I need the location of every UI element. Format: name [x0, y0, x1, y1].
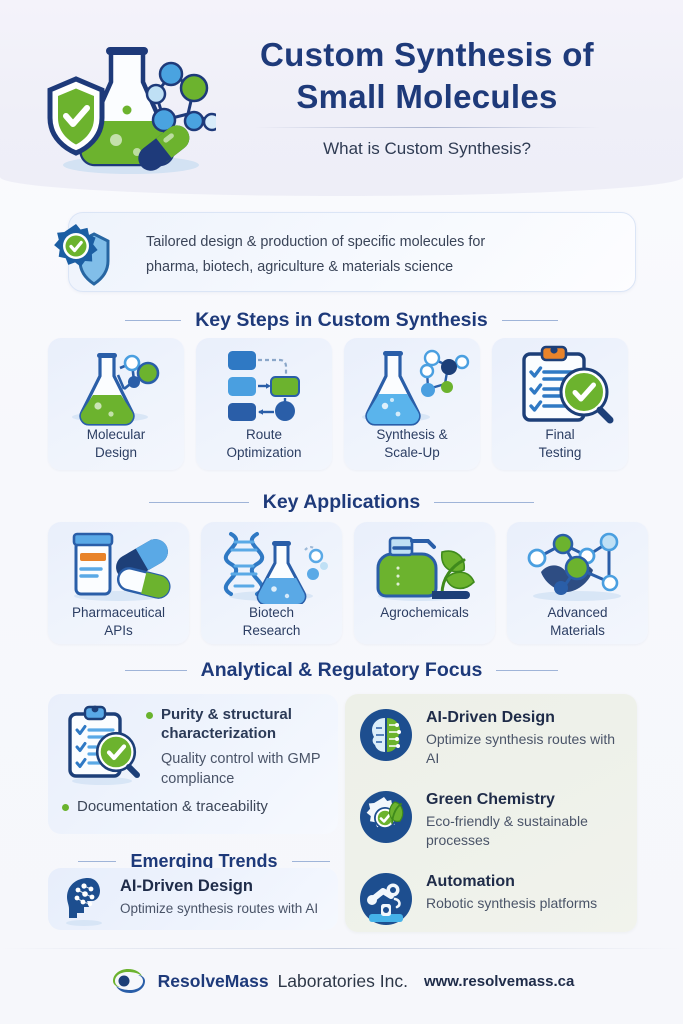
- heading-text: Key Steps in Custom Synthesis: [195, 309, 488, 332]
- bullet-dot: [62, 804, 69, 811]
- infographic-page: Custom Synthesis of Small Molecules What…: [0, 0, 683, 1024]
- heading-text: Analytical & Regulatory Focus: [201, 659, 483, 682]
- footer-divider: [0, 948, 683, 949]
- intro-callout: Tailored design & production of specific…: [46, 212, 636, 292]
- flowchart-icon: [196, 344, 332, 426]
- clipboard-checkmark-magnifier-icon: [492, 344, 628, 426]
- header-band: Custom Synthesis of Small Molecules What…: [0, 0, 683, 196]
- heading-rule-right: [496, 670, 558, 671]
- title-divider: [255, 127, 600, 128]
- card-advanced-materials[interactable]: Advanced Materials: [507, 522, 648, 644]
- intro-text: Tailored design & production of specific…: [146, 230, 616, 280]
- header-text-block: Custom Synthesis of Small Molecules What…: [212, 34, 642, 159]
- section-heading-key-steps: Key Steps in Custom Synthesis: [0, 309, 683, 332]
- card-biotech-research[interactable]: Biotech Research: [201, 522, 342, 644]
- heading-rule-left: [149, 502, 249, 503]
- trend-title: Green Chemistry: [426, 790, 626, 810]
- section-heading-key-applications: Key Applications: [0, 491, 683, 514]
- spray-bottle-leaf-icon: [354, 528, 495, 604]
- heading-text: Key Applications: [263, 491, 420, 514]
- trend-row-ai-driven-design[interactable]: AI-Driven Design Optimize synthesis rout…: [359, 708, 627, 768]
- bullet-title: Purity & structural characterization: [161, 705, 326, 743]
- card-label: Route Optimization: [222, 426, 305, 462]
- card-label: Agrochemicals: [376, 604, 473, 622]
- card-molecular-design[interactable]: Molecular Design: [48, 338, 184, 470]
- heading-rule-right: [292, 861, 330, 862]
- molecule-material-icon: [507, 528, 648, 604]
- clipboard-checkmark-magnifier-icon: [60, 704, 142, 786]
- intro-line-1: Tailored design & production of specific…: [146, 230, 616, 255]
- heading-rule-right: [502, 320, 558, 321]
- page-title-line2: Small Molecules: [212, 76, 642, 118]
- card-label: Molecular Design: [83, 426, 150, 462]
- emerging-trend-card-ai-driven-design[interactable]: AI-Driven Design Optimize synthesis rout…: [48, 868, 338, 930]
- footer-url[interactable]: www.resolvemass.ca: [424, 973, 574, 990]
- footer-company: Laboratories Inc.: [278, 971, 408, 992]
- flask-molecule-icon: [48, 344, 184, 426]
- robot-arm-icon: [359, 872, 413, 926]
- heading-rule-right: [434, 502, 534, 503]
- trend-title: Automation: [426, 872, 641, 892]
- footer-brand: ResolveMass: [158, 971, 269, 992]
- bullet-title: Documentation & traceability: [77, 797, 268, 817]
- flask-bubbles-molecule-icon: [344, 344, 480, 426]
- bullet-documentation-traceability: Documentation & traceability: [62, 797, 327, 817]
- pill-bottle-capsules-icon: [48, 528, 189, 604]
- trend-title: AI-Driven Design: [120, 877, 253, 896]
- card-pharmaceutical-apis[interactable]: Pharmaceutical APIs: [48, 522, 189, 644]
- flask-molecule-shield-capsule-illustration: [36, 28, 216, 178]
- card-route-optimization[interactable]: Route Optimization: [196, 338, 332, 470]
- gear-leaf-check-icon: [359, 790, 413, 844]
- trend-description: Optimize synthesis routes with AI: [426, 730, 621, 768]
- page-subtitle: What is Custom Synthesis?: [212, 139, 642, 159]
- ai-head-profile-icon: [58, 874, 110, 926]
- resolvemass-swirl-logo: [109, 964, 149, 998]
- footer: ResolveMass Laboratories Inc. www.resolv…: [0, 958, 683, 1004]
- trend-row-green-chemistry[interactable]: Green Chemistry Eco-friendly & sustainab…: [359, 790, 627, 850]
- section-heading-analytical-regulatory: Analytical & Regulatory Focus: [0, 659, 683, 682]
- heading-rule-left: [125, 320, 181, 321]
- page-title-line1: Custom Synthesis of: [212, 34, 642, 76]
- card-label: Advanced Materials: [543, 604, 611, 640]
- card-label: Final Testing: [535, 426, 586, 462]
- heading-rule-left: [125, 670, 187, 671]
- card-synthesis-scale-up[interactable]: Synthesis & Scale-Up: [344, 338, 480, 470]
- card-final-testing[interactable]: Final Testing: [492, 338, 628, 470]
- analytical-left-panel: Purity & structural characterization Qua…: [48, 694, 338, 834]
- trend-description: Optimize synthesis routes with AI: [120, 901, 318, 916]
- heading-rule-left: [78, 861, 116, 862]
- bullet-purity-characterization: Purity & structural characterization Qua…: [146, 705, 326, 789]
- trend-title: AI-Driven Design: [426, 708, 621, 728]
- trend-description: Eco-friendly & sustainable processes: [426, 812, 626, 850]
- bullet-subtitle: Quality control with GMP compliance: [161, 749, 326, 789]
- intro-line-2: pharma, biotech, agriculture & materials…: [146, 255, 616, 280]
- card-label: Biotech Research: [239, 604, 305, 640]
- trend-description: Robotic synthesis platforms: [426, 894, 641, 913]
- gear-check-shield-icon: [46, 218, 118, 288]
- bullet-dot: [146, 712, 153, 719]
- card-label: Pharmaceutical APIs: [68, 604, 169, 640]
- analytical-right-panel: AI-Driven Design Optimize synthesis rout…: [345, 694, 637, 932]
- key-steps-grid: Molecular Design: [48, 338, 635, 470]
- card-agrochemicals[interactable]: Agrochemicals: [354, 522, 495, 644]
- ai-brain-circuit-icon: [359, 708, 413, 762]
- card-label: Synthesis & Scale-Up: [372, 426, 451, 462]
- dna-flask-icon: [201, 528, 342, 604]
- key-applications-grid: Pharmaceutical APIs: [48, 522, 635, 644]
- trend-row-automation[interactable]: Automation Robotic synthesis platforms: [359, 872, 631, 926]
